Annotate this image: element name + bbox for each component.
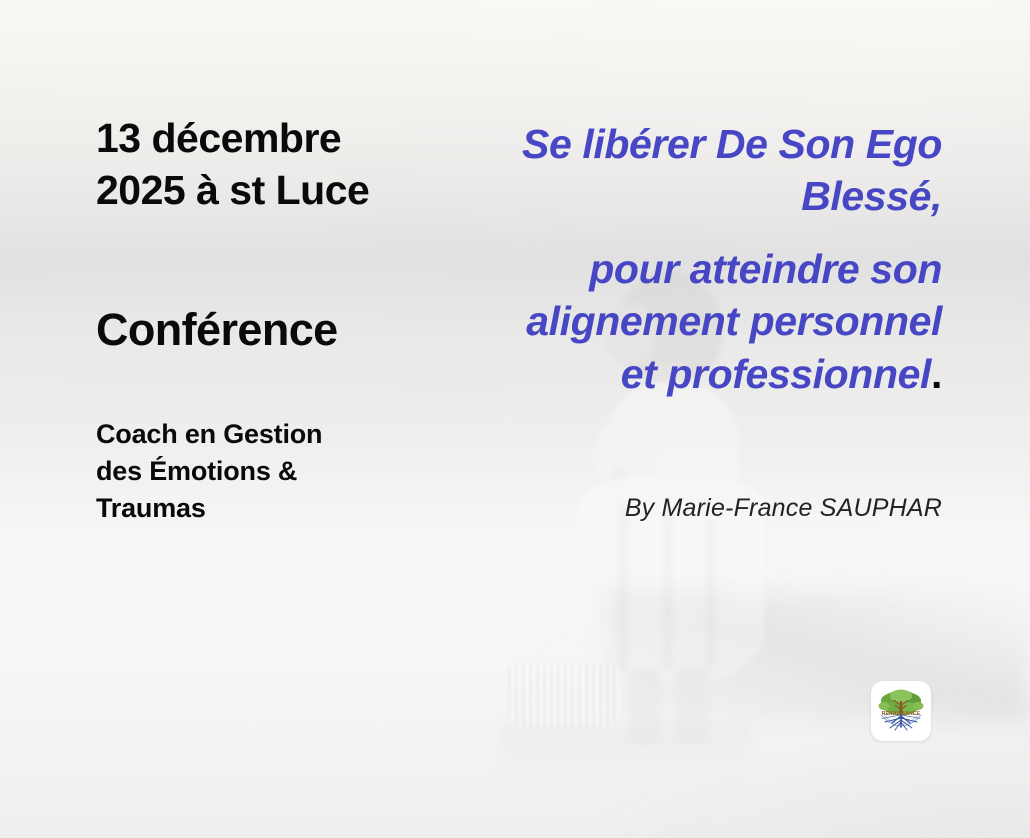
speaker-role: Coach en Gestion des Émotions & Traumas: [96, 416, 396, 526]
event-type-title: Conférence: [96, 305, 456, 355]
headline-line-5: et professionnel.: [442, 348, 942, 400]
renaissance-logo[interactable]: RENAISSANCE: [871, 681, 931, 741]
event-date-line-1: 13 décembre: [96, 115, 341, 161]
headline-line-1: Se libérer De Son Ego: [522, 121, 942, 167]
left-text-column: 13 décembre 2025 à st Luce Conférence Co…: [96, 112, 456, 527]
headline-line-2: Blessé,: [442, 170, 942, 222]
headline-line-3: pour atteindre son: [442, 243, 942, 295]
speaker-role-line-1: Coach en Gestion: [96, 419, 322, 449]
headline-line-5-text: et professionnel: [621, 351, 931, 397]
speaker-byline: By Marie-France SAUPHAR: [442, 494, 942, 523]
speaker-role-line-3: Traumas: [96, 493, 206, 523]
speaker-role-line-2: des Émotions &: [96, 456, 297, 486]
tree-logo-icon: [871, 681, 931, 741]
right-text-column: Se libérer De Son Ego Blessé, pour attei…: [442, 118, 942, 523]
conference-poster: 13 décembre 2025 à st Luce Conférence Co…: [0, 0, 1030, 838]
conference-headline: Se libérer De Son Ego Blessé, pour attei…: [442, 118, 942, 400]
headline-line-4: alignement personnel: [442, 295, 942, 347]
headline-period: .: [931, 351, 942, 397]
event-date: 13 décembre 2025 à st Luce: [96, 112, 456, 217]
event-date-line-2: 2025 à st Luce: [96, 167, 369, 213]
